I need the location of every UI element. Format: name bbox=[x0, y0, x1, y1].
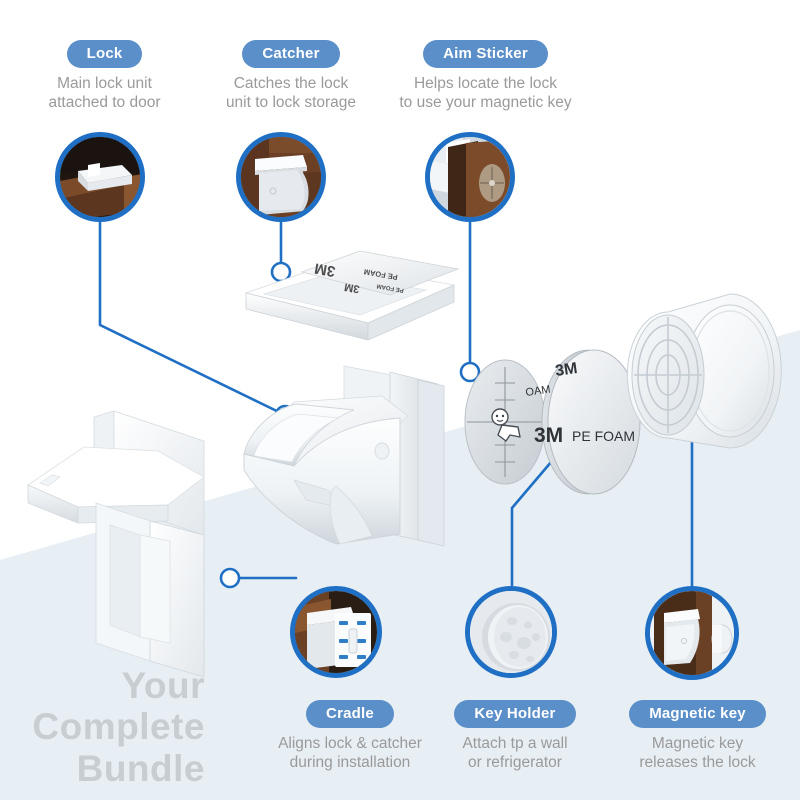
catcher-with-3m-tape-illustration: 3M PE FOAM 3M PE FOAM bbox=[240, 245, 460, 360]
callout-description-lock: Main lock unit attached to door bbox=[22, 75, 187, 113]
page-headline: Your Complete Bundle bbox=[0, 665, 205, 789]
lock-on-drawer-photo bbox=[60, 137, 140, 217]
lock-unit-illustration bbox=[232, 358, 462, 558]
foam-brand-text-main: 3M bbox=[534, 424, 563, 447]
tape-brand-text-1: 3M bbox=[313, 259, 336, 279]
callout-catcher: Catcher Catches the lock unit to lock st… bbox=[206, 40, 376, 113]
callout-description-cradle: Aligns lock & catcher during installatio… bbox=[262, 735, 438, 773]
inset-magnetic-key-on-door-photo[interactable] bbox=[645, 586, 739, 680]
callout-label-lock[interactable]: Lock bbox=[67, 40, 143, 68]
cradle-illustration bbox=[18, 385, 248, 680]
inset-key-holder-photo[interactable] bbox=[465, 586, 557, 678]
callout-key-holder: Key Holder Attach tp a wall or refrigera… bbox=[440, 700, 590, 773]
callout-lock: Lock Main lock unit attached to door bbox=[22, 40, 187, 113]
inset-aim-sticker-on-door-photo[interactable] bbox=[425, 132, 515, 222]
foam-brand-text-top: 3M bbox=[554, 360, 578, 380]
callout-label-magnetic-key[interactable]: Magnetic key bbox=[629, 700, 766, 728]
callout-description-catcher: Catches the lock unit to lock storage bbox=[206, 75, 376, 113]
inset-catcher-in-cabinet-photo[interactable] bbox=[236, 132, 326, 222]
callout-label-aim-sticker[interactable]: Aim Sticker bbox=[423, 40, 548, 68]
callout-description-magnetic-key: Magnetic key releases the lock bbox=[620, 735, 775, 773]
magnetic-key-illustration bbox=[618, 272, 788, 472]
key-holder-photo bbox=[470, 591, 552, 673]
inset-lock-on-drawer-photo[interactable] bbox=[55, 132, 145, 222]
callout-label-key-holder[interactable]: Key Holder bbox=[454, 700, 575, 728]
inset-cradle-install-photo[interactable] bbox=[290, 586, 382, 678]
infographic-canvas: 3M PE FOAM 3M PE FOAM bbox=[0, 0, 800, 800]
aim-sticker-on-door-photo bbox=[430, 137, 510, 217]
cradle-install-photo bbox=[295, 591, 377, 673]
callout-magnetic-key: Magnetic key Magnetic key releases the l… bbox=[620, 700, 775, 773]
callout-aim-sticker: Aim Sticker Helps locate the lock to use… bbox=[383, 40, 588, 113]
callout-label-cradle[interactable]: Cradle bbox=[306, 700, 394, 728]
callout-description-key-holder: Attach tp a wall or refrigerator bbox=[440, 735, 590, 773]
catcher-in-cabinet-photo bbox=[241, 137, 321, 217]
callout-cradle: Cradle Aligns lock & catcher during inst… bbox=[262, 700, 438, 773]
callout-description-aim-sticker: Helps locate the lock to use your magnet… bbox=[383, 75, 588, 113]
magnetic-key-on-door-photo bbox=[650, 591, 734, 675]
callout-label-catcher[interactable]: Catcher bbox=[242, 40, 339, 68]
